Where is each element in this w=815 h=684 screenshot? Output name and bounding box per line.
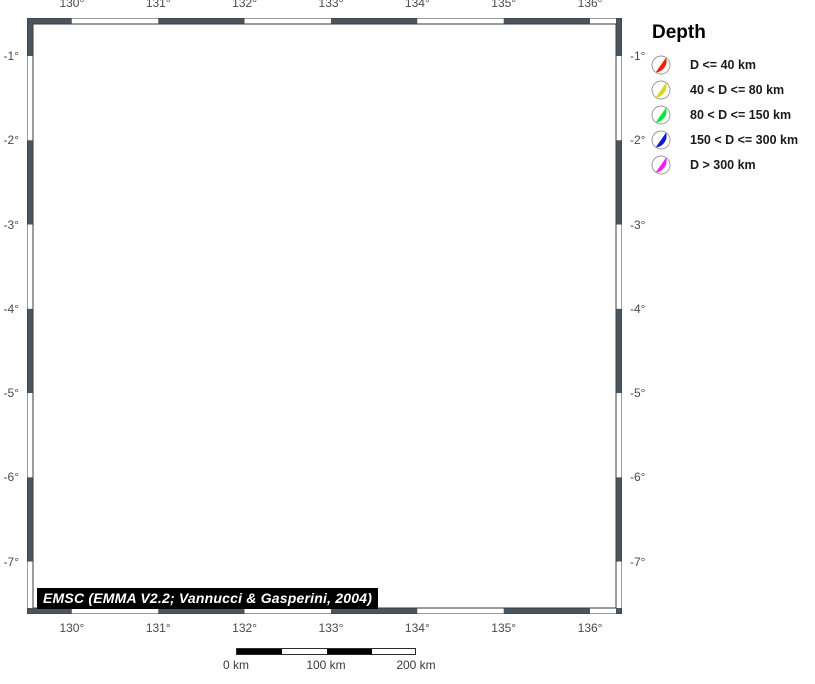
lat-tick-label-left: -3° [4,218,19,232]
scale-bar: 0 km100 km200 km [236,648,416,674]
focal-mechanism-beachball-icon [650,79,672,101]
scale-bar-labels: 0 km100 km200 km [236,658,416,674]
lon-tick-label-top: 132° [232,0,257,10]
map-canvas[interactable]: EMSC [33,24,616,608]
legend-title: Depth [652,22,810,44]
lon-tick-label-bottom: 131° [146,621,171,635]
map-plot-area[interactable]: EMSC [33,24,616,608]
lat-tick-label-left: -5° [4,386,19,400]
legend-row: D > 300 km [650,152,810,177]
focal-mechanism-beachball-icon [178,404,198,424]
lat-tick-label-right: -5° [630,386,645,400]
legend-row: 40 < D <= 80 km [650,77,810,102]
legend-label: 80 < D <= 150 km [690,108,791,122]
lon-tick-label-top: 135° [491,0,516,10]
lat-tick-label-right: -2° [630,133,645,147]
focal-mechanism-beachball-icon [650,54,672,76]
lat-tick-label-right: -3° [630,218,645,232]
lon-tick-label-bottom: 132° [232,621,257,635]
scale-bar-label: 0 km [223,658,249,672]
lat-tick-label-left: -6° [4,470,19,484]
lon-tick-label-bottom: 136° [578,621,603,635]
focal-mechanism-beachball-icon [650,154,672,176]
legend-label: 150 < D <= 300 km [690,133,798,147]
lat-tick-label-left: -4° [4,302,19,316]
focal-mechanism-beachball-icon [650,154,672,176]
focal-mechanism-beachball-icon [164,252,184,272]
lon-tick-label-bottom: 135° [491,621,516,635]
scale-bar-label: 100 km [306,658,345,672]
focal-mechanism-beachball-icon [650,79,672,101]
lon-tick-label-top: 133° [319,0,344,10]
legend-label: D > 300 km [690,158,756,172]
legend-rows: D <= 40 km40 < D <= 80 km80 < D <= 150 k… [650,52,810,177]
focal-mechanism-beachball-icon [650,104,672,126]
lon-tick-label-bottom: 134° [405,621,430,635]
lat-tick-label-right: -6° [630,470,645,484]
scale-bar-segment [237,649,282,654]
seismic-focal-mechanism-map-figure: EMSC 130°130°131°131°132°132°133°133°134… [0,0,815,684]
lon-tick-label-bottom: 130° [59,621,84,635]
lon-tick-label-top: 131° [146,0,171,10]
map-terrain-svg: EMSC [33,24,616,608]
focal-mechanism-beachball-icon [650,104,672,126]
focal-mechanism-beachball-icon [650,129,672,151]
focal-mechanism-beachball-icon [650,54,672,76]
legend-row: 150 < D <= 300 km [650,127,810,152]
epicenter-label: EMSC [310,348,342,360]
lat-tick-label-left: -1° [4,49,19,63]
lat-tick-label-right: -1° [630,49,645,63]
map-source-caption: EMSC (EMMA V2.2; Vannucci & Gasperini, 2… [37,588,378,609]
scale-bar-label: 200 km [396,658,435,672]
lat-tick-label-left: -2° [4,133,19,147]
legend-row: 80 < D <= 150 km [650,102,810,127]
lat-tick-label-right: -4° [630,302,645,316]
lon-tick-label-bottom: 133° [319,621,344,635]
lon-tick-label-top: 130° [59,0,84,10]
lon-tick-label-top: 136° [578,0,603,10]
legend-label: D <= 40 km [690,58,756,72]
legend-row: D <= 40 km [650,52,810,77]
lat-tick-label-left: -7° [4,555,19,569]
lon-tick-label-top: 134° [405,0,430,10]
scale-bar-segment [327,649,372,654]
lat-tick-label-right: -7° [630,555,645,569]
legend-label: 40 < D <= 80 km [690,83,784,97]
scale-bar-track [236,648,416,655]
focal-mechanism-beachball-icon [650,129,672,151]
depth-legend: Depth D <= 40 km40 < D <= 80 km80 < D <=… [650,22,810,177]
